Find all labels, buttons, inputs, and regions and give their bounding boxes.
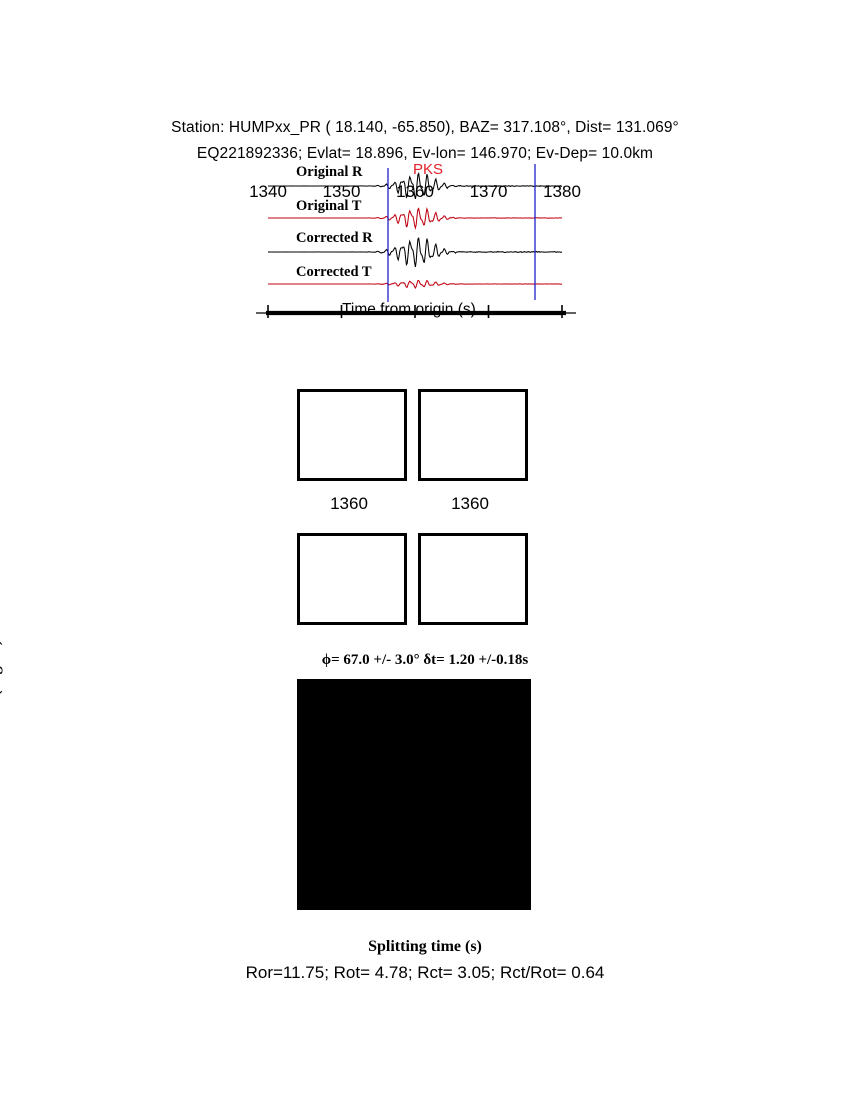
contour-axes bbox=[287, 669, 547, 924]
time-tick-1370: 1370 bbox=[470, 182, 508, 202]
y-axis-title: Fast direction (degree) bbox=[0, 640, 4, 794]
splitting-analysis-figure: Station: HUMPxx_PR ( 18.140, -65.850), B… bbox=[0, 0, 850, 1100]
overlay-tick-label-left: 1360 bbox=[330, 494, 368, 514]
quality-statistics-line: Ror=11.75; Rot= 4.78; Rct= 3.05; Rct/Rot… bbox=[0, 963, 850, 983]
station-info-line: Station: HUMPxx_PR ( 18.140, -65.850), B… bbox=[0, 119, 850, 137]
overlay-panel-ticks bbox=[280, 380, 550, 490]
overlay-tick-label-right: 1360 bbox=[451, 494, 489, 514]
splitting-result-title: ϕ= 67.0 +/- 3.0° δt= 1.20 +/-0.18s bbox=[0, 652, 850, 669]
trace-label-corrected-r: Corrected R bbox=[296, 230, 373, 247]
time-tick-1360: 1360 bbox=[396, 182, 434, 202]
phase-marker-label: PKS bbox=[413, 161, 443, 178]
time-tick-1380: 1380 bbox=[543, 182, 581, 202]
time-tick-1350: 1350 bbox=[323, 182, 361, 202]
trace-label-corrected-t: Corrected T bbox=[296, 264, 372, 281]
particle-motion-ticks bbox=[280, 524, 550, 629]
trace-label-original-r: Original R bbox=[296, 164, 362, 181]
time-axis-title: Time from origin (s) bbox=[342, 301, 476, 319]
time-tick-1340: 1340 bbox=[249, 182, 287, 202]
x-axis-title: Splitting time (s) bbox=[0, 938, 850, 956]
